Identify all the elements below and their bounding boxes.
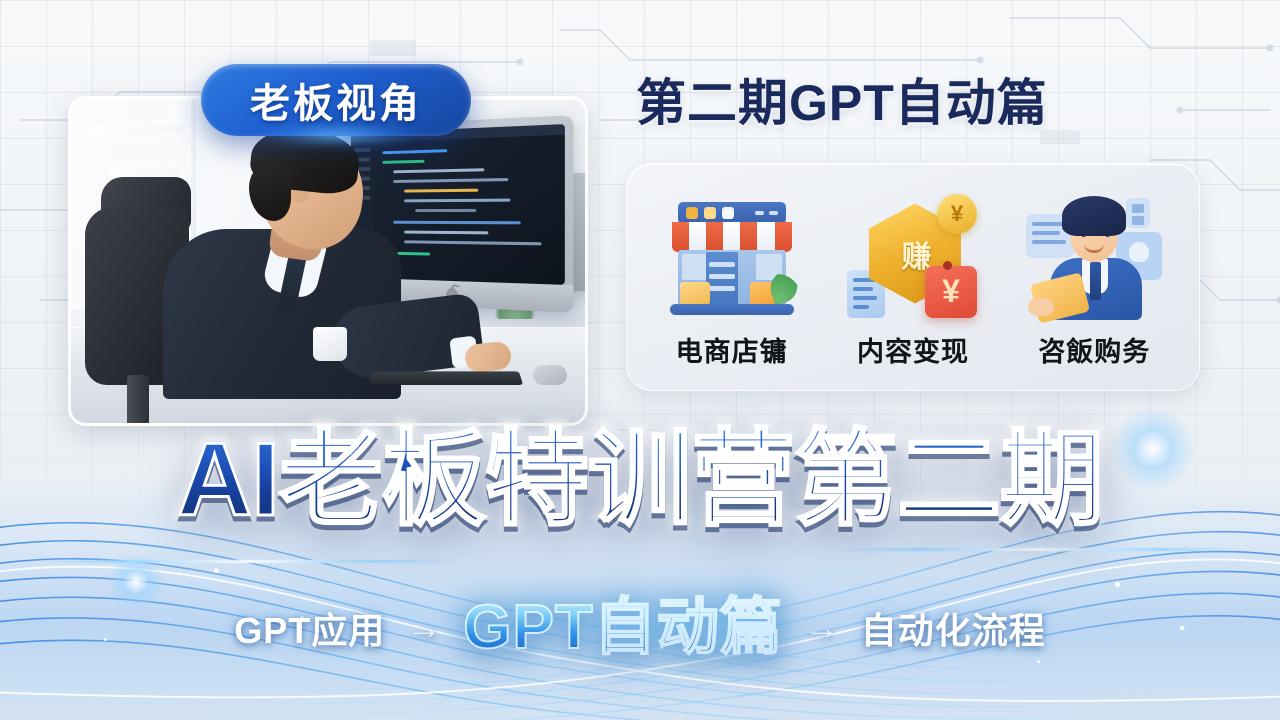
mouse	[533, 365, 567, 385]
feature-label: 咨飯购务	[1038, 330, 1150, 369]
tagline-left: GPT应用	[234, 602, 385, 654]
poster-canvas: 老板视角 第二期GPT自动篇 电商店镛 赚	[0, 0, 1280, 720]
feature-label: 内容变现	[857, 330, 969, 369]
bottom-tagline-bar: GPT应用 → GPT自动篇 → 自动化流程	[0, 590, 1280, 666]
arrow-right-icon: →	[805, 611, 839, 645]
feature-item-ecommerce[interactable]: 电商店镛	[647, 186, 817, 369]
businessman-figure	[163, 131, 409, 399]
feature-item-monetization[interactable]: 赚 ¥ ¥ 内容变现	[828, 186, 998, 369]
keyboard	[369, 371, 523, 385]
sub-heading: 第二期GPT自动篇	[636, 63, 1048, 135]
coffee-mug	[313, 327, 347, 361]
yuan-price-tag-icon: ¥	[925, 266, 977, 318]
businessman-at-desk-photo	[68, 96, 588, 426]
feature-item-consulting[interactable]: 咨飯购务	[1009, 186, 1179, 369]
arrow-right-icon: →	[407, 611, 441, 645]
consultant-icon	[1024, 186, 1164, 326]
main-title: AI老板特训营第二期	[0, 428, 1280, 532]
feature-card-panel: 电商店镛 赚 ¥ ¥ 内容变现	[626, 163, 1200, 391]
storefront-icon	[662, 186, 802, 326]
hexagon-text: 赚	[901, 232, 928, 276]
boss-perspective-badge[interactable]: 老板视角	[201, 64, 471, 136]
tagline-center: GPT自动篇	[463, 597, 782, 659]
money-hexagon-icon: 赚 ¥ ¥	[843, 186, 983, 326]
tagline-right: 自动化流程	[861, 602, 1046, 654]
badge-label: 老板视角	[250, 71, 422, 129]
feature-label: 电商店镛	[676, 330, 788, 369]
gold-coin-icon: ¥	[937, 194, 977, 234]
